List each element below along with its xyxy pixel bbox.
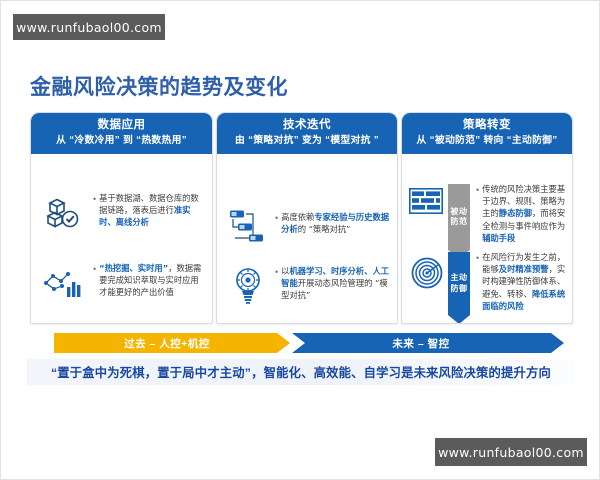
bullet-marker: • bbox=[476, 252, 479, 264]
column-3-heading: 策略转变 bbox=[406, 118, 568, 133]
column-2-subheading: 由 “策略对抗” 变为 “模型对抗 ” bbox=[221, 134, 393, 148]
page-title: 金融风险决策的趋势及变化 bbox=[30, 71, 288, 101]
column-1-bullet-2-text: “热挖掘、实时用”，数据需要完成知识萃取与实时应用才能更好的产出价值 bbox=[99, 262, 205, 299]
column-2-bullet-1: • 高度依赖专家经验与历史数据分析的 “策略对抗” bbox=[275, 211, 391, 235]
column-2-body: • 高度依赖专家经验与历史数据分析的 “策略对抗” bbox=[217, 154, 397, 324]
lightbulb-gear-icon bbox=[231, 266, 265, 304]
column-1-heading: 数据应用 bbox=[35, 118, 208, 133]
column-3-bullet-2-text: 在风险行为发生之前，能够及时精准预警，实时构建弹性防御体系、避免、转移、降低系统… bbox=[482, 251, 568, 312]
radar-target-icon bbox=[411, 257, 443, 289]
bullet-marker: • bbox=[93, 263, 96, 275]
column-3-subheading: 从 “被动防范” 转向 “主动防御” bbox=[406, 134, 568, 148]
column-2-bullet-2-text: 以机器学习、时序分析、人工智能开展动态风险管理的 “模型对抗” bbox=[281, 265, 393, 302]
bullet-marker: • bbox=[275, 266, 278, 278]
column-3-bullet-1-text: 传统的风险决策主要基于边界、规则、策略为主的静态防御，而将安全检测与事件响应作为… bbox=[482, 183, 568, 244]
slide-canvas: www.runfubaol00.com 金融风险决策的趋势及变化 数据应用 从 … bbox=[0, 0, 600, 480]
ribbon-passive-prevention: 被动防范 bbox=[448, 184, 470, 259]
column-2-bullet-1-text: 高度依赖专家经验与历史数据分析的 “策略对抗” bbox=[281, 211, 391, 235]
timeline-bar-past: 过去 – 人控+机控 bbox=[54, 333, 290, 353]
timeline-past-label: 过去 – 人控+机控 bbox=[124, 336, 220, 351]
column-3-body: 被动防范 • 传统的风险决策主要基于边界、规则、策略为主的静态防御，而将安全检测… bbox=[402, 154, 572, 324]
brick-wall-icon bbox=[409, 188, 443, 214]
column-3-header: 策略转变 从 “被动防范” 转向 “主动防御” bbox=[402, 113, 572, 154]
boxes-check-icon bbox=[44, 194, 82, 232]
bullet-marker: • bbox=[275, 212, 278, 224]
quote-banner: “置于盒中为死棋，置于局中才主动”，智能化、高效能、自学习是未来风险决策的提升方… bbox=[27, 359, 575, 385]
column-strategy-transformation: 策略转变 从 “被动防范” 转向 “主动防御” bbox=[401, 112, 573, 324]
data-network-chart-icon bbox=[43, 267, 83, 301]
column-1-bullet-1: • 基于数据湖、数据仓库的数据链路，落表后进行准实时、离线分析 bbox=[93, 192, 205, 229]
watermark-top: www.runfubaol00.com bbox=[13, 14, 165, 40]
column-3-bullet-1: • 传统的风险决策主要基于边界、规则、策略为主的静态防御，而将安全检测与事件响应… bbox=[476, 183, 568, 244]
column-2-heading: 技术迭代 bbox=[221, 118, 393, 133]
timeline-bar-future: 未来 – 智控 bbox=[292, 333, 564, 353]
column-technology-iteration: 技术迭代 由 “策略对抗” 变为 “模型对抗 ” bbox=[216, 112, 398, 324]
flow-nodes-icon bbox=[227, 209, 267, 243]
column-2-bullet-2: • 以机器学习、时序分析、人工智能开展动态风险管理的 “模型对抗” bbox=[275, 265, 393, 302]
ribbon-active-defense: 主动防御 bbox=[448, 252, 470, 324]
timeline-future-label: 未来 – 智控 bbox=[392, 336, 463, 351]
column-1-bullet-1-text: 基于数据湖、数据仓库的数据链路，落表后进行准实时、离线分析 bbox=[99, 192, 205, 229]
bullet-marker: • bbox=[476, 184, 479, 196]
column-1-header: 数据应用 从 “冷数冷用” 到 “热数热用” bbox=[31, 113, 212, 154]
column-data-application: 数据应用 从 “冷数冷用” 到 “热数热用” bbox=[30, 112, 213, 324]
column-3-bullet-2: • 在风险行为发生之前，能够及时精准预警，实时构建弹性防御体系、避免、转移、降低… bbox=[476, 251, 568, 312]
ribbon-passive-label: 被动防范 bbox=[448, 207, 470, 228]
bullet-marker: • bbox=[93, 193, 96, 205]
ribbon-active-label: 主动防御 bbox=[448, 273, 470, 294]
column-1-bullet-2: • “热挖掘、实时用”，数据需要完成知识萃取与实时应用才能更好的产出价值 bbox=[93, 262, 205, 299]
column-2-header: 技术迭代 由 “策略对抗” 变为 “模型对抗 ” bbox=[217, 113, 397, 154]
watermark-bottom: www.runfubaol00.com bbox=[435, 438, 587, 466]
column-1-body: • 基于数据湖、数据仓库的数据链路，落表后进行准实时、离线分析 bbox=[31, 154, 212, 324]
column-1-subheading: 从 “冷数冷用” 到 “热数热用” bbox=[35, 134, 208, 148]
